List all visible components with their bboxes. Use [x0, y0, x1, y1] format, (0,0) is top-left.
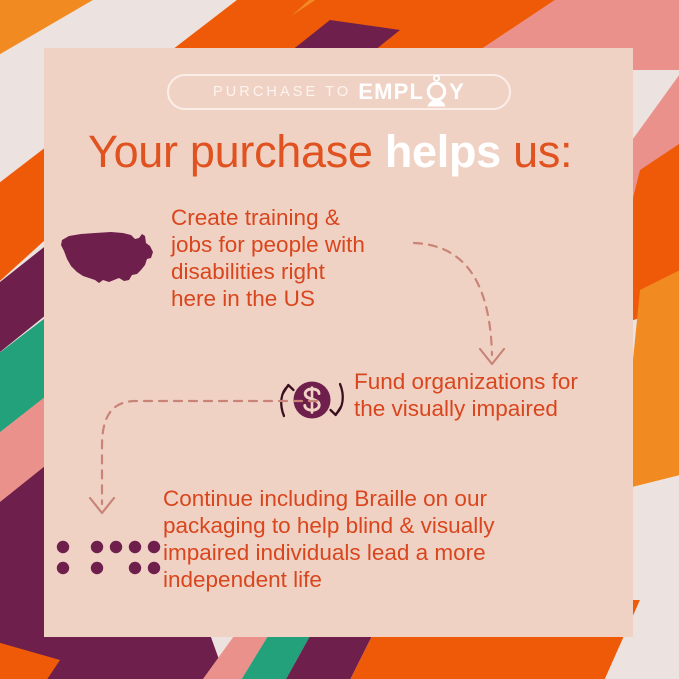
benefit-text-braille-packaging: Continue including Braille on our packag… [163, 485, 563, 593]
arrow-training-to-fund [410, 233, 540, 383]
headline-part-1: Your purchase [88, 126, 385, 177]
us-map-icon [59, 226, 159, 295]
content-card: PURCHASE TO EMPL Y Your purchase helps u [44, 48, 633, 637]
logo-prefix-text: PURCHASE TO [213, 84, 351, 100]
logo-word-before: EMPL [358, 79, 424, 105]
benefit-text-fund-organizations: Fund organizations for the visually impa… [354, 368, 634, 422]
logo-employ-word: EMPL Y [358, 75, 465, 109]
braille-dots-icon [53, 534, 163, 587]
person-icon [424, 75, 449, 109]
logo-inner: PURCHASE TO EMPL Y [169, 76, 509, 108]
purchase-to-employ-logo: PURCHASE TO EMPL Y [167, 74, 511, 110]
headline-part-2: us: [501, 126, 572, 177]
benefit-text-training-jobs: Create training & jobs for people with d… [171, 204, 421, 312]
poster: PURCHASE TO EMPL Y Your purchase helps u [0, 0, 679, 679]
headline-emphasis: helps [385, 126, 501, 177]
page-title: Your purchase helps us: [88, 126, 608, 178]
logo-word-after: Y [449, 79, 465, 105]
